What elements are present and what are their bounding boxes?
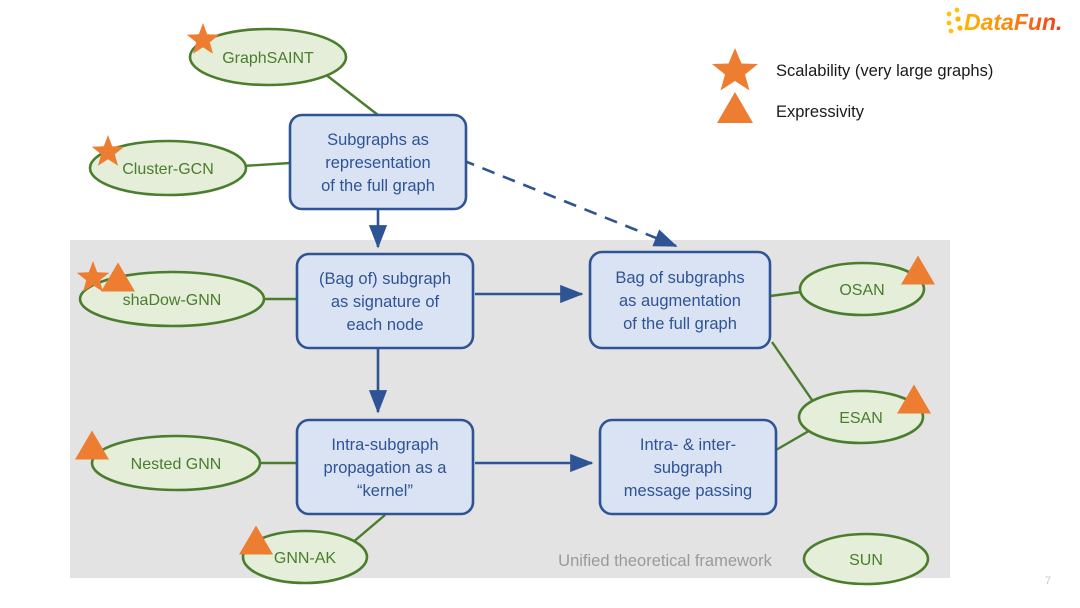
method-ellipse-label: GraphSAINT xyxy=(222,50,314,67)
method-ellipse-label: ESAN xyxy=(839,410,883,427)
process-box-label-line: representation xyxy=(325,154,431,172)
legend-label-scalability: Scalability (very large graphs) xyxy=(776,62,993,80)
process-box-label-line: Bag of subgraphs xyxy=(615,269,744,287)
process-box-label-line: message passing xyxy=(624,482,752,500)
process-box-label-line: Intra- & inter- xyxy=(640,436,736,454)
method-ellipse[interactable]: Cluster-GCN xyxy=(90,135,246,195)
link-graphsaint xyxy=(325,74,378,115)
method-ellipse-label: shaDow-GNN xyxy=(123,292,222,309)
logo-dot-icon xyxy=(949,29,954,34)
process-box-label-line: subgraph xyxy=(654,459,723,477)
process-box-label-line: propagation as a xyxy=(324,459,448,477)
logo-dot-icon xyxy=(957,25,962,30)
datafun-logo: DataFun. xyxy=(947,8,1063,35)
triangle-icon xyxy=(717,92,753,123)
method-ellipse[interactable]: GraphSAINT xyxy=(187,23,346,85)
process-box[interactable]: Intra- & inter-subgraphmessage passing xyxy=(600,420,776,514)
logo-wordmark: DataFun. xyxy=(964,9,1062,35)
logo-dot-icon xyxy=(947,21,952,26)
process-box-label-line: as signature of xyxy=(331,293,440,311)
link-cluster-gcn xyxy=(243,163,290,166)
page-number: 7 xyxy=(1045,575,1051,587)
method-ellipse-label: GNN-AK xyxy=(274,550,337,567)
slide-canvas: Subgraphs asrepresentationof the full gr… xyxy=(0,0,1080,608)
process-box-label-line: (Bag of) subgraph xyxy=(319,270,451,288)
process-box-label-line: as augmentation xyxy=(619,292,741,310)
process-box[interactable]: Subgraphs asrepresentationof the full gr… xyxy=(290,115,466,209)
legend: Scalability (very large graphs) Expressi… xyxy=(712,48,993,123)
process-box[interactable]: (Bag of) subgraphas signature ofeach nod… xyxy=(297,254,473,348)
process-box-label-line: each node xyxy=(346,316,423,334)
process-box-label-line: of the full graph xyxy=(321,177,435,195)
process-box-label-line: “kernel” xyxy=(357,482,413,500)
logo-dot-icon xyxy=(955,8,960,13)
method-ellipse-label: SUN xyxy=(849,552,883,569)
subgraph-gnn-taxonomy-diagram: Subgraphs asrepresentationof the full gr… xyxy=(0,0,1080,608)
process-box-label-line: Subgraphs as xyxy=(327,131,429,149)
framework-label: Unified theoretical framework xyxy=(558,552,772,570)
process-box[interactable]: Intra-subgraphpropagation as a“kernel” xyxy=(297,420,473,514)
arrow-representation-to-augmentation-dashed xyxy=(462,160,676,246)
method-ellipse-label: Cluster-GCN xyxy=(122,161,214,178)
method-ellipse-label: OSAN xyxy=(839,282,884,299)
logo-dot-icon xyxy=(955,16,960,21)
process-box[interactable]: Bag of subgraphsas augmentationof the fu… xyxy=(590,252,770,348)
logo-dot-icon xyxy=(947,12,952,17)
method-ellipse[interactable]: SUN xyxy=(804,534,928,584)
star-icon xyxy=(712,48,758,91)
legend-label-expressivity: Expressivity xyxy=(776,103,865,121)
method-ellipse-label: Nested GNN xyxy=(131,456,222,473)
process-box-label-line: Intra-subgraph xyxy=(331,436,438,454)
process-box-label-line: of the full graph xyxy=(623,315,737,333)
